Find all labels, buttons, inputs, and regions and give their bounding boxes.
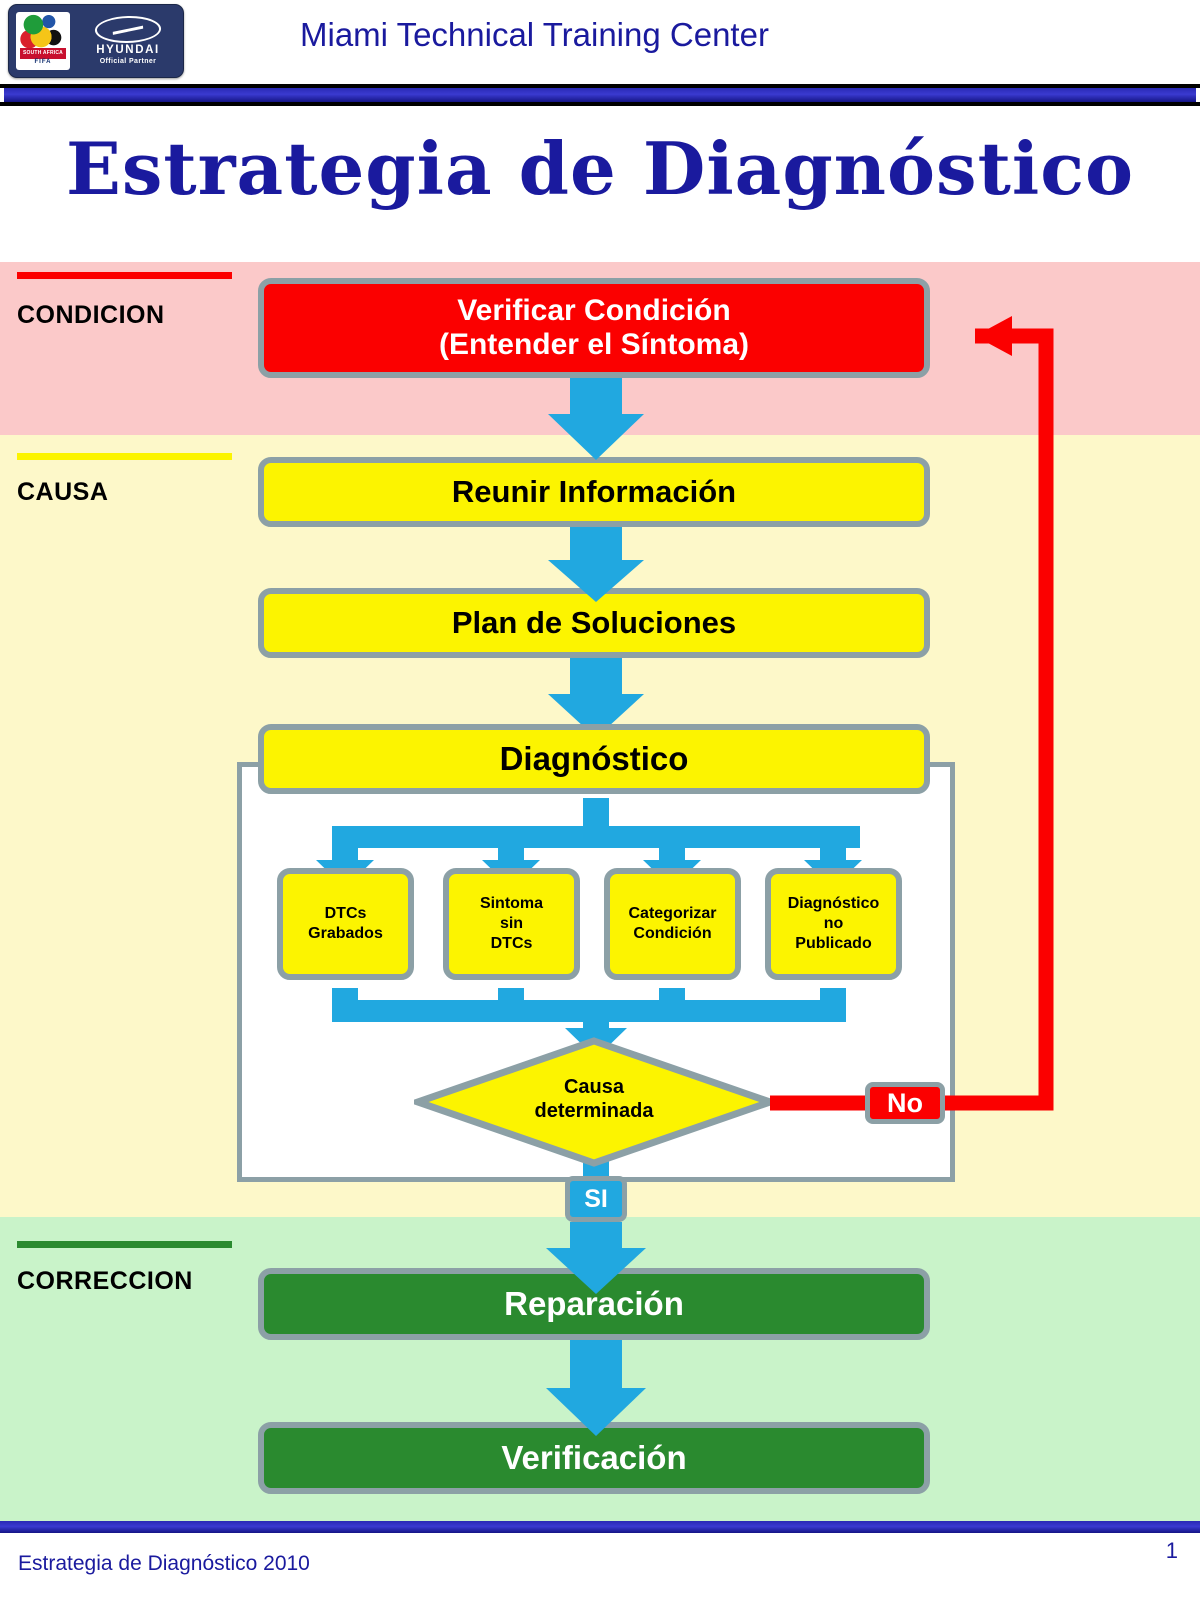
- section-label-causa: CAUSA: [17, 478, 108, 507]
- node-reparacion[interactable]: Reparación: [258, 1268, 930, 1340]
- node-reparacion-label: Reparación: [504, 1286, 684, 1323]
- hyundai-wordmark: HYUNDAI: [80, 44, 176, 57]
- node-diagnostico[interactable]: Diagnóstico: [258, 724, 930, 794]
- edge-label-si-text: SI: [584, 1185, 608, 1214]
- diamond-label: Causa determinada: [414, 1075, 774, 1123]
- header-divider-bottom: [0, 102, 1200, 106]
- hyundai-fifa-logo: SOUTH AFRICA 2010 FIFA HYUNDAI Official …: [8, 4, 184, 78]
- node-verificacion-label: Verificación: [501, 1440, 686, 1477]
- footer-divider: [0, 1521, 1200, 1533]
- subbox-1-line1: DTCs: [308, 904, 383, 924]
- subbox-3-line1: Categorizar: [628, 904, 716, 924]
- section-accent-correccion: [17, 1241, 232, 1248]
- node-causa-determinada[interactable]: Causa determinada: [414, 1037, 774, 1167]
- subbox-4-line2: no: [788, 914, 880, 934]
- emblem-player-icon: [19, 14, 67, 52]
- section-label-condicion: CONDICION: [17, 301, 165, 330]
- subbox-1-line2: Grabados: [308, 924, 383, 944]
- edge-label-no[interactable]: No: [865, 1082, 945, 1124]
- footer-text: Estrategia de Diagnóstico 2010: [18, 1552, 310, 1576]
- page-number: 1: [1166, 1538, 1178, 1564]
- emblem-fifa-label: FIFA: [16, 59, 70, 65]
- page-header: SOUTH AFRICA 2010 FIFA HYUNDAI Official …: [0, 0, 1200, 84]
- node-reunir-informacion[interactable]: Reunir Información: [258, 457, 930, 527]
- subbox-4-line1: Diagnóstico: [788, 894, 880, 914]
- diamond-line2: determinada: [414, 1099, 774, 1123]
- hyundai-logo-block: HYUNDAI Official Partner: [80, 16, 176, 67]
- section-label-correccion: CORRECCION: [17, 1267, 193, 1296]
- edge-label-no-text: No: [887, 1088, 923, 1119]
- subbox-4-line3: Publicado: [788, 934, 880, 954]
- subbox-2-line1: Sintoma: [480, 894, 543, 914]
- node-dtcs-grabados[interactable]: DTCs Grabados: [277, 868, 414, 980]
- section-accent-condicion: [17, 272, 232, 279]
- node-sintoma-sin-dtcs[interactable]: Sintoma sin DTCs: [443, 868, 580, 980]
- edge-label-si[interactable]: SI: [565, 1176, 627, 1222]
- subbox-3-line2: Condición: [628, 924, 716, 944]
- slide-title: Estrategia de Diagnóstico: [0, 126, 1200, 211]
- header-divider-bar: [4, 88, 1196, 102]
- fifa-world-cup-emblem-icon: SOUTH AFRICA 2010 FIFA: [16, 12, 70, 70]
- section-accent-causa: [17, 453, 232, 460]
- hyundai-h-icon: [93, 16, 163, 43]
- node-verificacion[interactable]: Verificación: [258, 1422, 930, 1494]
- node-verificar-condicion[interactable]: Verificar Condición (Entender el Síntoma…: [258, 278, 930, 378]
- hyundai-partner-label: Official Partner: [80, 57, 176, 67]
- node-diagnostico-label: Diagnóstico: [500, 741, 689, 778]
- node-diagnostico-no-publicado[interactable]: Diagnóstico no Publicado: [765, 868, 902, 980]
- emblem-event-label: SOUTH AFRICA 2010: [20, 48, 66, 59]
- subbox-2-line2: sin: [480, 914, 543, 934]
- node-verificar-line2: (Entender el Síntoma): [439, 328, 749, 362]
- diamond-line1: Causa: [414, 1075, 774, 1099]
- node-categorizar-condicion[interactable]: Categorizar Condición: [604, 868, 741, 980]
- node-plan-de-soluciones[interactable]: Plan de Soluciones: [258, 588, 930, 658]
- header-title: Miami Technical Training Center: [300, 16, 920, 54]
- node-verificar-line1: Verificar Condición: [457, 294, 730, 328]
- node-reunir-label: Reunir Información: [452, 475, 736, 510]
- node-plan-label: Plan de Soluciones: [452, 606, 736, 641]
- subbox-2-line3: DTCs: [480, 934, 543, 954]
